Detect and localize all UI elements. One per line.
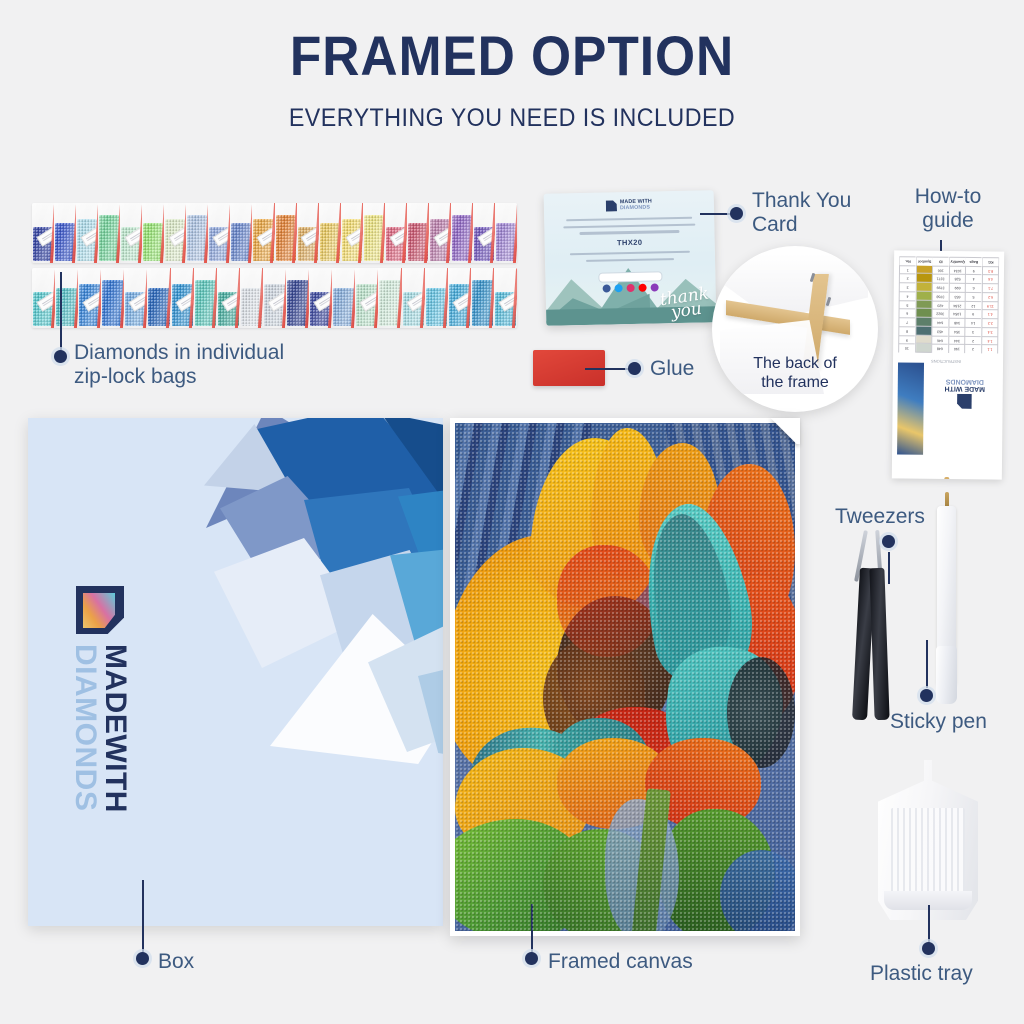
- page-header: FRAMED OPTION EVERYTHING YOU NEED IS INC…: [0, 28, 1024, 131]
- card-discount-code: THX20: [558, 237, 701, 249]
- bag-sheen: [124, 268, 147, 328]
- plastic-tray: [878, 760, 978, 920]
- diamond-bag: [32, 203, 54, 263]
- product-box: MADEWITH DIAMONDS: [28, 418, 443, 926]
- bag-sheen: [32, 268, 55, 328]
- bag-sheen: [263, 268, 286, 328]
- bag-sheen: [142, 203, 164, 263]
- callout-label-tweezers: Tweezers: [835, 505, 925, 529]
- bag-sheen: [54, 203, 76, 263]
- guide-table-cell: [916, 274, 932, 283]
- bag-sheen: [297, 203, 319, 263]
- guide-table-cell: 3.4: [982, 327, 998, 336]
- diamond-bag-row-bottom: [32, 268, 517, 328]
- guide-table-cell: 10: [899, 344, 915, 353]
- diamond-bag: [495, 203, 517, 263]
- sticky-pen: [937, 492, 956, 704]
- pinterest-icon: [651, 283, 659, 291]
- diamond-bag: [240, 268, 263, 328]
- bag-sheen: [275, 203, 297, 263]
- bag-sheen: [217, 268, 240, 328]
- guide-table-cell: 354: [949, 327, 965, 336]
- guide-table-cell: 699: [949, 283, 965, 292]
- bag-sheen: [55, 268, 78, 328]
- guide-table-cell: [916, 335, 932, 344]
- callout-label-canvas: Framed canvas: [548, 950, 693, 974]
- bag-sheen: [319, 203, 341, 263]
- guide-table-cell: 8: [899, 326, 915, 335]
- diamond-bag: [208, 203, 230, 263]
- guide-table-cell: 7.1: [982, 284, 998, 293]
- guide-note: INSTRUCTIONS: [931, 359, 961, 364]
- box-brand-top: MADEWITH: [100, 644, 130, 813]
- diamond-bag: [363, 203, 385, 263]
- guide-table-cell: [916, 344, 932, 353]
- bag-sheen: [378, 268, 401, 328]
- instagram-icon: [627, 284, 635, 292]
- callout-label-how-to: How-to guide: [888, 185, 1008, 232]
- guide-table-column: ID1663371379937684203022644453646648: [931, 257, 949, 353]
- leader-line-thank-you: [700, 213, 732, 215]
- youtube-icon: [639, 284, 647, 292]
- callout-label-box: Box: [158, 950, 194, 974]
- guide-table-cell: 7: [899, 318, 915, 327]
- canvas-artwork: [455, 423, 795, 931]
- diamond-bag: [425, 268, 448, 328]
- callout-label-glue: Glue: [650, 357, 694, 381]
- guide-table-cell: 648: [932, 344, 948, 353]
- bag-sheen: [471, 268, 494, 328]
- guide-table-column: No.12345678910: [898, 256, 916, 352]
- box-brand-bottom: DIAMONDS: [70, 644, 100, 813]
- diamond-bag: [297, 203, 319, 263]
- guide-preview-image: [897, 362, 924, 454]
- callout-dot-canvas: [525, 952, 538, 965]
- callout-dot-glue: [628, 362, 641, 375]
- diamond-bag: [448, 268, 471, 328]
- bag-sheen: [309, 268, 332, 328]
- leader-line-tray: [928, 905, 930, 943]
- diamond-bag: [32, 268, 55, 328]
- bag-sheen: [448, 268, 471, 328]
- diamond-bag: [473, 203, 495, 263]
- leader-line-pen: [926, 640, 928, 688]
- diamond-bag: [471, 268, 494, 328]
- brand-mark-icon: [76, 586, 124, 634]
- bag-sheen: [194, 268, 217, 328]
- bag-sheen: [451, 203, 473, 263]
- bag-sheen: [407, 203, 429, 263]
- canvas-corner-curl: [770, 418, 800, 444]
- guide-table-cell: 2.2: [982, 318, 998, 327]
- frame-back-caption: The back of the frame: [712, 355, 878, 392]
- diamond-bag: [355, 268, 378, 328]
- diamond-bag: [494, 268, 517, 328]
- box-brand-lockup: MADEWITH DIAMONDS: [70, 586, 130, 813]
- guide-table-cell: 14: [965, 318, 981, 327]
- guide-table-header: Quantity: [950, 257, 966, 266]
- diamond-bag: [429, 203, 451, 263]
- bag-sheen: [252, 203, 274, 263]
- guide-table-cell: 3022: [932, 309, 948, 318]
- diamond-bag: [101, 268, 124, 328]
- callout-dot-tray: [922, 942, 935, 955]
- callout-label-diamonds: Diamonds in individual zip-lock bags: [74, 341, 344, 388]
- guide-table-cell: 1.1: [982, 345, 998, 354]
- diamond-bag: [171, 268, 194, 328]
- bag-sheen: [425, 268, 448, 328]
- tray-ridges: [891, 808, 965, 894]
- brand-mark-icon: [957, 394, 972, 409]
- diamond-bag: [332, 268, 355, 328]
- diamond-bag: [309, 268, 332, 328]
- leader-line-tweezers: [888, 552, 890, 584]
- bag-sheen: [240, 268, 263, 328]
- guide-table-column: KG8.34.67.16.211.94.12.23.41.41.1: [981, 257, 1000, 353]
- guide-table-cell: [916, 292, 932, 301]
- bag-sheen: [120, 203, 142, 263]
- bag-sheen: [32, 203, 54, 263]
- guide-table-header: Symbol: [917, 257, 933, 266]
- diamond-bag: [142, 203, 164, 263]
- bag-sheen: [473, 203, 495, 263]
- guide-table-cell: 9: [965, 310, 981, 319]
- guide-table-header: No.: [900, 256, 916, 265]
- diamond-bag: [164, 203, 186, 263]
- twitter-icon: [615, 284, 623, 292]
- bag-sheen: [208, 203, 230, 263]
- guide-table-cell: 190: [949, 344, 965, 353]
- guide-table-cell: [916, 283, 932, 292]
- diamond-bag: [341, 203, 363, 263]
- how-to-guide: No.12345678910SymbolID166337137993768420…: [892, 250, 1004, 479]
- guide-brand-bottom: DIAMONDS: [937, 377, 993, 385]
- card-handle-field: [598, 271, 662, 282]
- guide-table-cell: [916, 265, 932, 274]
- guide-table-cell: 4: [966, 275, 982, 284]
- diamond-bag: [120, 203, 142, 263]
- pen-grip: [936, 646, 957, 704]
- diamond-bag: [55, 268, 78, 328]
- bag-sheen: [78, 268, 101, 328]
- card-message: THX20: [558, 217, 702, 267]
- guide-table-cell: 3799: [933, 283, 949, 292]
- guide-table-cell: 2: [965, 345, 981, 354]
- callout-label-tray: Plastic tray: [870, 962, 973, 986]
- diamond-bag-row-top: [32, 203, 517, 263]
- guide-table-cell: 4.1: [982, 310, 998, 319]
- guide-color-table: No.12345678910SymbolID166337137993768420…: [898, 256, 999, 353]
- framed-canvas: [450, 418, 800, 936]
- bag-sheen: [147, 268, 170, 328]
- bag-sheen: [341, 203, 363, 263]
- diamond-bag: [98, 203, 120, 263]
- guide-stick: [944, 477, 949, 480]
- diamond-bag: [378, 268, 401, 328]
- bag-sheen: [186, 203, 208, 263]
- callout-dot-box: [136, 952, 149, 965]
- diamond-bag: [76, 203, 98, 263]
- callout-dot-pen: [920, 689, 933, 702]
- guide-table-cell: 1054: [949, 309, 965, 318]
- bag-sheen: [494, 268, 517, 328]
- guide-table-cell: 5: [966, 292, 982, 301]
- guide-table-cell: [916, 327, 932, 336]
- guide-table-column: Quantity10345286996532184105434835434419…: [948, 257, 966, 353]
- card-logo-bottom: DIAMONDS: [620, 205, 652, 211]
- page-title: FRAMED OPTION: [41, 28, 983, 84]
- facebook-icon: [603, 284, 611, 292]
- diamond-bag: [186, 203, 208, 263]
- guide-brand-top: MADE WITH: [937, 384, 993, 392]
- guide-table-cell: 528: [949, 274, 965, 283]
- guide-table-cell: 3: [965, 327, 981, 336]
- brand-mark-icon: [606, 200, 617, 211]
- infographic-stage: FRAMED OPTION EVERYTHING YOU NEED IS INC…: [0, 0, 1024, 1024]
- bag-sheen: [171, 268, 194, 328]
- diamond-bag: [451, 203, 473, 263]
- guide-table-cell: 3768: [933, 292, 949, 301]
- guide-table-cell: 4: [900, 291, 916, 300]
- guide-table-column: Symbol: [915, 257, 933, 353]
- bag-sheen: [385, 203, 407, 263]
- page-subtitle: EVERYTHING YOU NEED IS INCLUDED: [36, 106, 988, 131]
- guide-table-cell: 4.6: [982, 275, 998, 284]
- diamond-bag: [319, 203, 341, 263]
- diamond-bag: [407, 203, 429, 263]
- guide-table-cell: [916, 309, 932, 318]
- tweezers: [855, 530, 899, 720]
- diamond-bag: [217, 268, 240, 328]
- leader-line-box: [142, 880, 144, 952]
- callout-dot-thank-you: [730, 207, 743, 220]
- guide-table-column: Bags946512914322: [964, 257, 982, 353]
- bag-sheen: [402, 268, 425, 328]
- guide-brand: MADE WITH DIAMONDS: [937, 377, 993, 409]
- bag-sheen: [101, 268, 124, 328]
- guide-table-cell: 3: [900, 283, 916, 292]
- guide-table-cell: 644: [932, 318, 948, 327]
- diamond-bag: [286, 268, 309, 328]
- guide-table-cell: 453: [932, 327, 948, 336]
- guide-table-cell: 348: [949, 318, 965, 327]
- callout-label-pen: Sticky pen: [890, 710, 987, 734]
- guide-table-cell: 653: [949, 292, 965, 301]
- bag-sheen: [429, 203, 451, 263]
- bag-sheen: [230, 203, 252, 263]
- callout-dot-diamonds: [54, 350, 67, 363]
- guide-table-cell: 3371: [933, 274, 949, 283]
- callout-label-thank-you: Thank You Card: [752, 189, 892, 236]
- guide-table-header: ID: [933, 257, 949, 266]
- bag-sheen: [495, 203, 517, 263]
- diamond-texture: [455, 423, 795, 931]
- bag-sheen: [355, 268, 378, 328]
- diamond-bag: [275, 203, 297, 263]
- diamond-bag: [252, 203, 274, 263]
- bag-sheen: [363, 203, 385, 263]
- guide-table-header: KG: [983, 257, 999, 266]
- guide-table-cell: 6: [899, 309, 915, 318]
- diamond-bag: [263, 268, 286, 328]
- diamond-bag: [124, 268, 147, 328]
- diamond-bag: [54, 203, 76, 263]
- bag-sheen: [332, 268, 355, 328]
- guide-table-header: Bags: [966, 257, 982, 266]
- leader-line-glue: [585, 368, 630, 370]
- guide-table-cell: 6: [966, 283, 982, 292]
- guide-table-cell: 6.2: [982, 292, 998, 301]
- bag-sheen: [76, 203, 98, 263]
- leader-line-diamonds: [60, 272, 62, 350]
- diamond-bag: [402, 268, 425, 328]
- diamond-bag: [385, 203, 407, 263]
- guide-table-cell: [916, 318, 932, 327]
- diamond-bag: [230, 203, 252, 263]
- thank-you-card: MADE WITH DIAMONDS THX20 thank you: [544, 190, 717, 326]
- bag-sheen: [98, 203, 120, 263]
- guide-table-cell: 2: [900, 274, 916, 283]
- callout-dot-tweezers: [882, 535, 895, 548]
- bag-sheen: [164, 203, 186, 263]
- guide-table-cell: [916, 300, 932, 309]
- diamond-bag: [194, 268, 217, 328]
- diamond-bag: [78, 268, 101, 328]
- frame-back-bubble: The back of the frame: [712, 246, 878, 412]
- diamond-bag: [147, 268, 170, 328]
- bag-sheen: [286, 268, 309, 328]
